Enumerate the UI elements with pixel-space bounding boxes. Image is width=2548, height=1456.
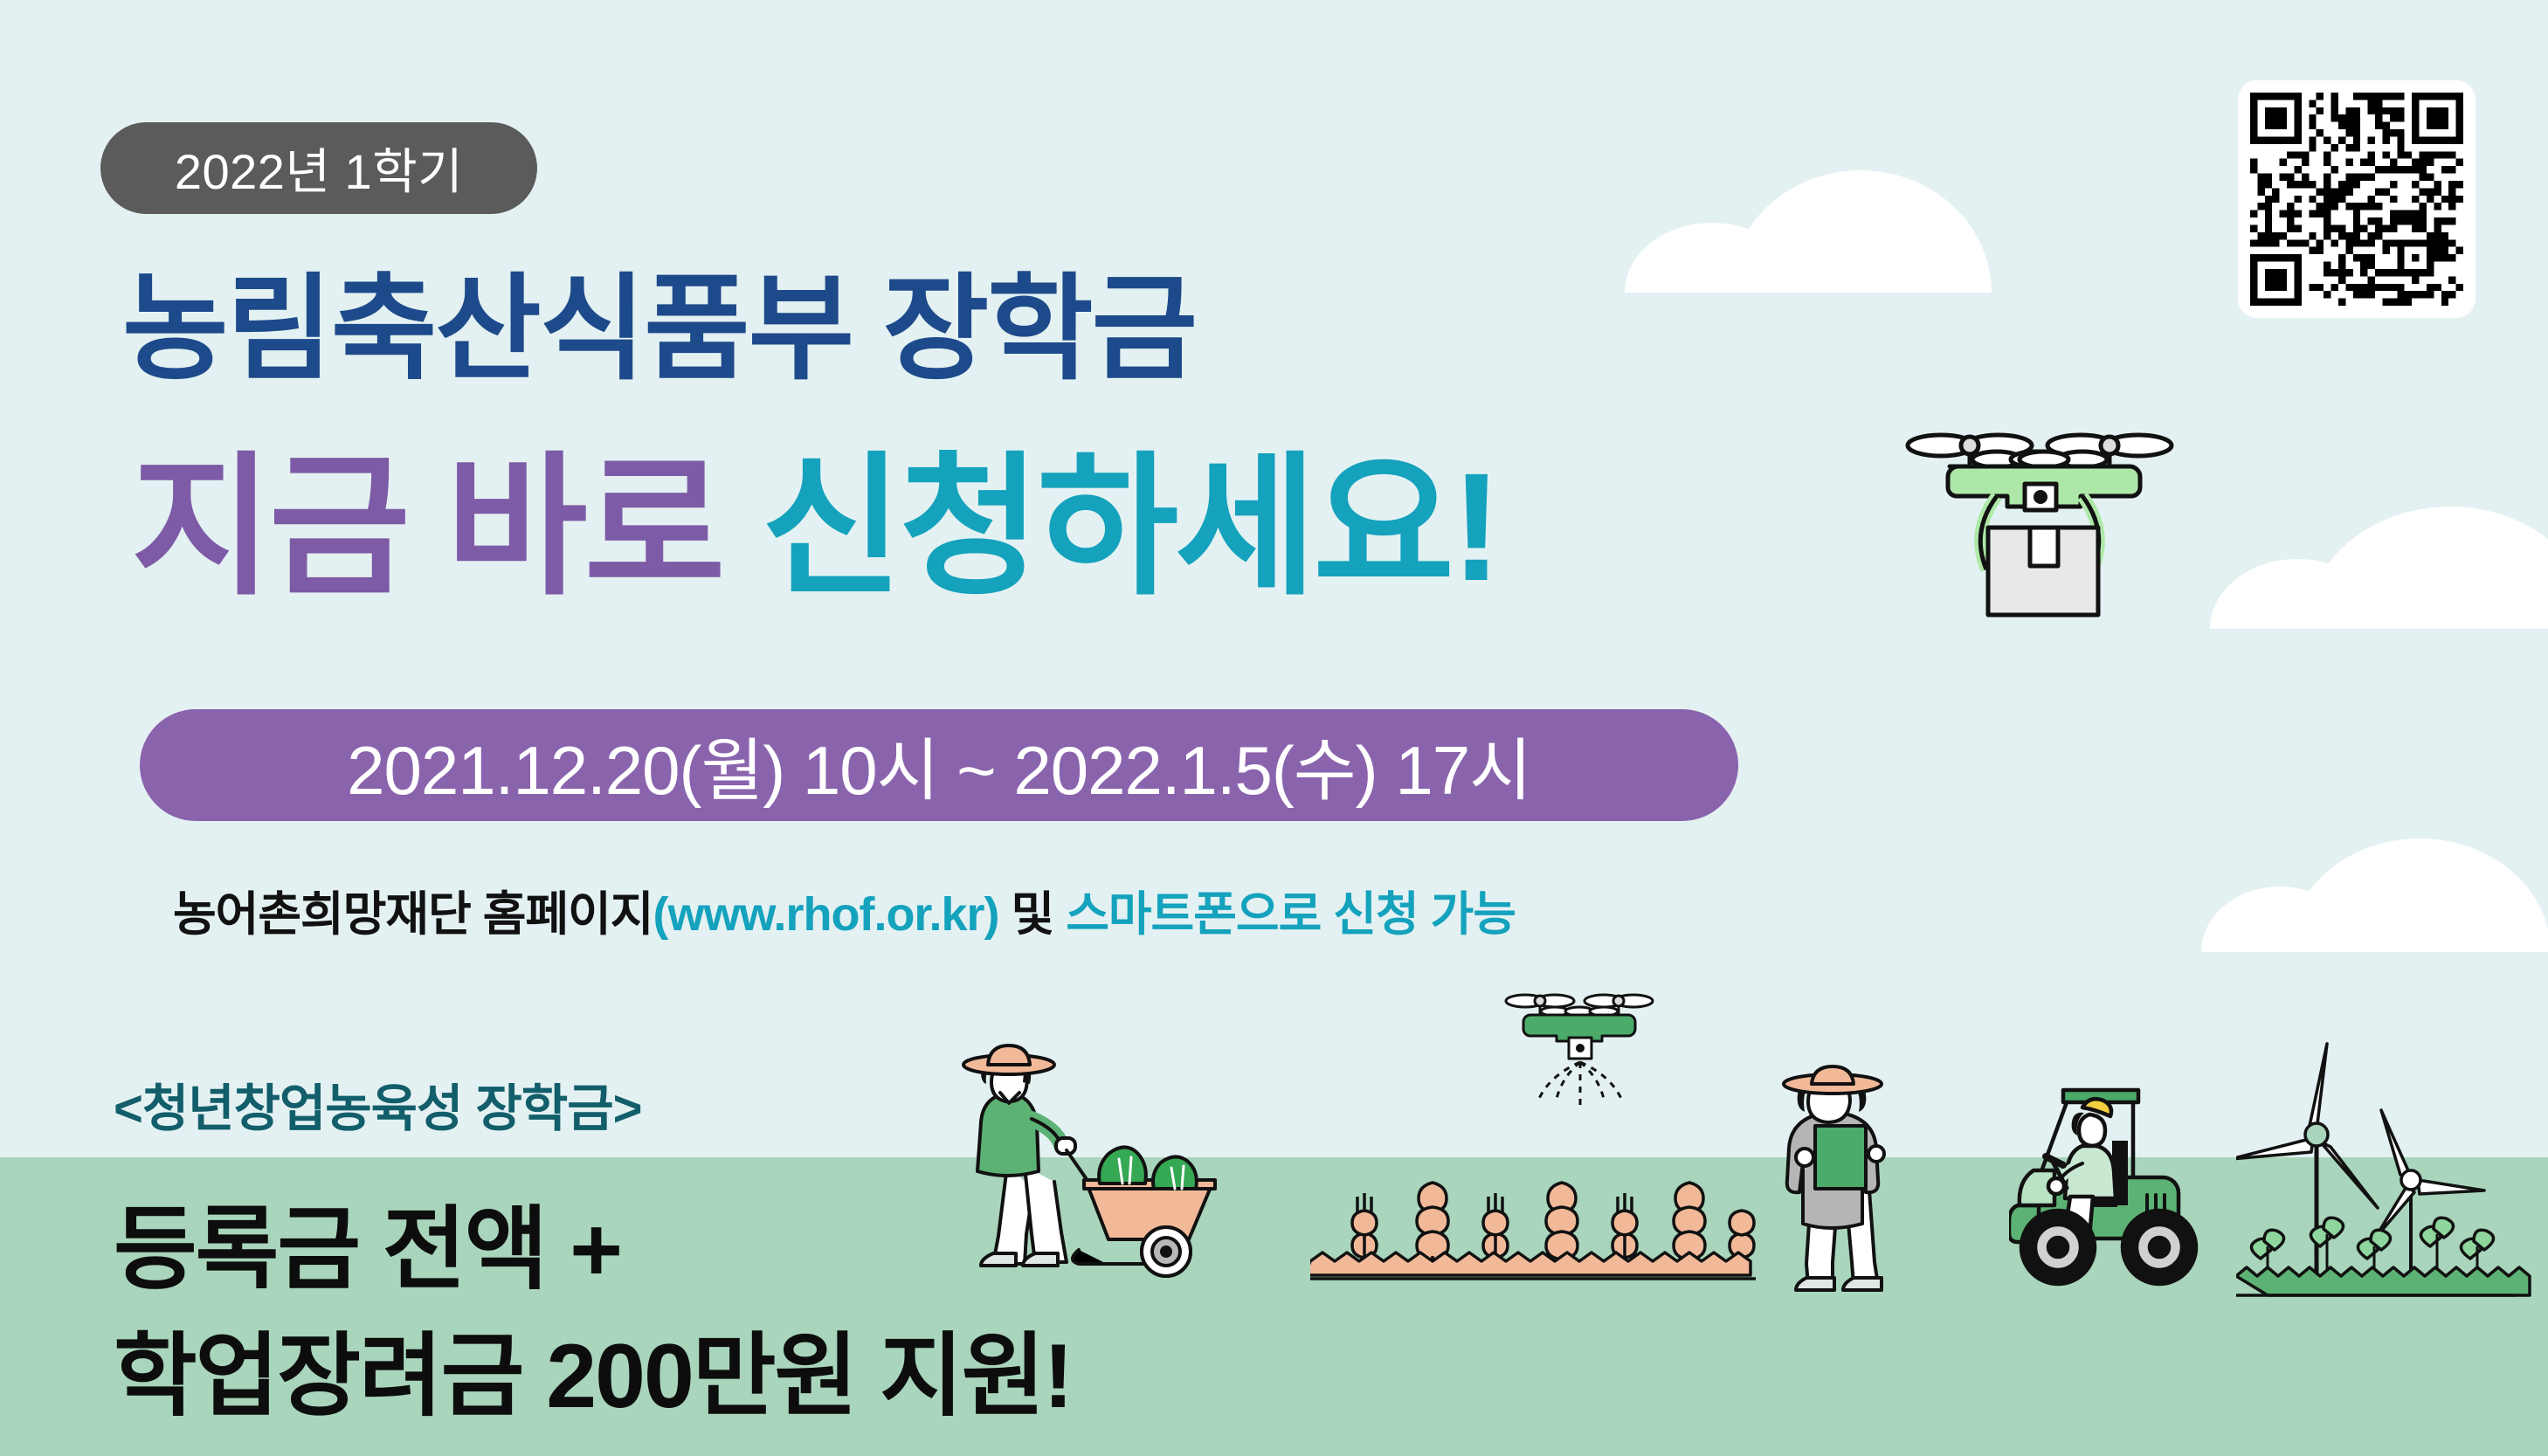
scholarship-type-label: <청년창업농육성 장학금> [114,1067,641,1141]
semester-badge: 2022년 1학기 [100,122,537,214]
delivery-drone-icon [1887,411,2192,664]
conjunction-text: 및 [999,888,1067,941]
qr-code-canvas [2250,93,2463,306]
semester-badge-label: 2022년 1학기 [175,133,463,204]
spray-drone-icon [1501,985,1658,1108]
page-title: 농림축산식품부 장학금 [122,236,1196,403]
farmer-wheelbarrow-icon [948,1035,1227,1288]
headline-secondary: 지금 바로 신청하세요! [131,402,1499,624]
application-period-text: 2021.12.20(월) 10시 ~ 2022.1.5(수) 17시 [347,716,1531,814]
wheat-field-icon [1310,1170,1756,1284]
foundation-name: 농어촌희망재단 홈페이지 [173,888,653,941]
application-period-pill: 2021.12.20(월) 10시 ~ 2022.1.5(수) 17시 [140,709,1738,821]
tractor-icon [2009,1066,2236,1301]
promo-banner: 2022년 1학기 농림축산식품부 장학금 지금 바로 신청하세요! 2021.… [0,0,2548,1456]
headline-teal-part: 신청하세요! [762,442,1499,613]
qr-code-icon[interactable] [2238,80,2475,318]
benefit-line-1: 등록금 전액 + [114,1175,621,1307]
headline-purple-part: 지금 바로 [131,442,722,613]
smartphone-note: 스마트폰으로 신청 가능 [1066,888,1516,941]
benefit-line-2: 학업장려금 200만원 지원! [114,1301,1072,1433]
farmer-tablet-icon [1771,1061,1946,1293]
application-channel-line: 농어촌희망재단 홈페이지(www.rhof.or.kr) 및 스마트폰으로 신청… [173,875,1516,944]
website-url[interactable]: (www.rhof.or.kr) [653,888,998,941]
wind-turbine-icon [2236,1026,2548,1306]
